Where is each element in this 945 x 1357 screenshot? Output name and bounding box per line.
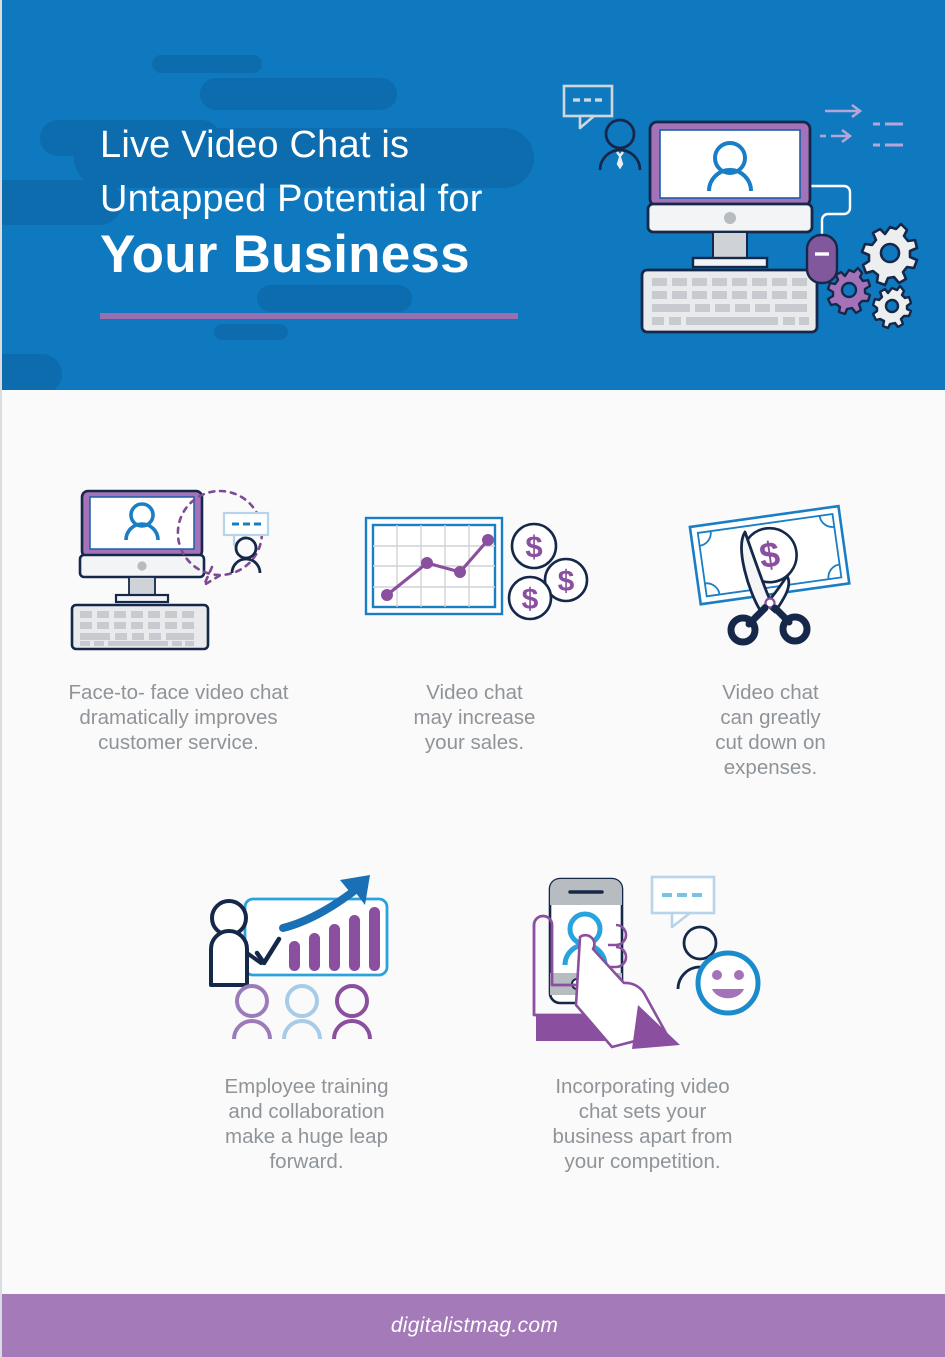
smiley-face-icon	[698, 953, 758, 1013]
dollar-coin-icon-3: $	[509, 577, 551, 619]
svg-text:$: $	[557, 565, 574, 598]
benefit-caption: Employee trainingand collaborationmake a…	[224, 1074, 388, 1174]
benefit-card-sales: $ $ $ Video chatmay increaseyour sales.	[350, 480, 600, 780]
mouse-icon	[807, 235, 837, 283]
dash-lines-icon	[873, 124, 903, 145]
benefit-caption: Incorporating videochat sets yourbusines…	[552, 1074, 732, 1174]
pointing-sleeve	[632, 1005, 680, 1049]
benefit-card-competition: Incorporating videochat sets yourbusines…	[508, 862, 778, 1174]
benefits-row-1: Face-to- face video chatdramatically imp…	[2, 480, 945, 780]
desktop-video-chat-illustration	[558, 78, 938, 353]
monitor-video-chat-speech-bubble-icon	[64, 480, 294, 660]
mouse-cable	[810, 186, 850, 234]
benefit-caption: Video chatmay increaseyour sales.	[414, 680, 536, 755]
title-underline	[100, 313, 518, 319]
benefit-caption: Video chatcan greatlycut down onexpenses…	[715, 680, 826, 780]
footer-bar: digitalistmag.com	[2, 1294, 945, 1357]
svg-text:$: $	[521, 583, 538, 616]
scissors-cutting-dollar-bill-icon: $	[671, 480, 871, 660]
keyboard-icon	[642, 270, 817, 332]
page-title: Live Video Chat is Untapped Potential fo…	[100, 118, 570, 288]
benefit-card-training: Employee trainingand collaborationmake a…	[172, 862, 442, 1174]
footer-website-link[interactable]: digitalistmag.com	[391, 1314, 558, 1338]
banknote-icon: $	[689, 506, 848, 604]
benefits-row-2: Employee trainingand collaborationmake a…	[2, 862, 945, 1174]
title-line-3: Your Business	[100, 222, 570, 288]
decor-pill-8	[2, 354, 62, 390]
gear-icon-large	[862, 224, 917, 285]
benefit-card-customer-service: Face-to- face video chatdramatically imp…	[54, 480, 304, 780]
title-line-1: Live Video Chat is	[100, 118, 570, 172]
decor-pill-7	[214, 324, 288, 340]
decor-pill-2	[200, 78, 397, 110]
arrows-icon	[820, 105, 860, 142]
title-line-2: Untapped Potential for	[100, 172, 570, 226]
dollar-coin-icon-1: $	[512, 524, 556, 568]
audience-icon-1	[234, 986, 270, 1039]
decor-pill-1	[152, 55, 262, 73]
benefit-caption: Face-to- face video chatdramatically imp…	[69, 680, 289, 755]
speech-bubble-icon	[564, 86, 612, 128]
decor-pill-6	[257, 285, 412, 312]
person-with-tie-icon	[600, 120, 640, 170]
line-chart-dollar-coins-icon: $ $ $	[360, 480, 590, 660]
speech-bubble-icon	[652, 877, 714, 927]
gear-icon-small	[873, 286, 911, 328]
audience-icon-2	[284, 986, 320, 1039]
header-banner: Live Video Chat is Untapped Potential fo…	[2, 0, 945, 390]
svg-text:$: $	[525, 529, 542, 564]
benefit-card-expenses: $ Video chatcan greatlycut down onexpens…	[646, 480, 896, 780]
presenter-bar-chart-audience-icon	[199, 862, 414, 1052]
audience-icon-3	[334, 986, 370, 1039]
hand-phone-video-chat-smiley-icon	[520, 862, 765, 1052]
